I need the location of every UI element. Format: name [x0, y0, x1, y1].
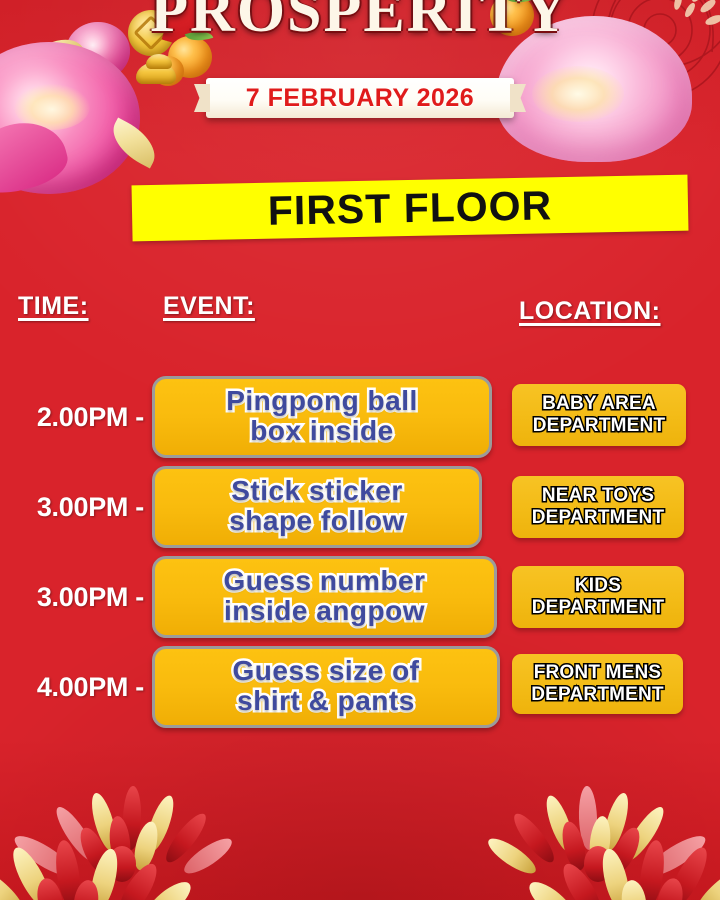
event-location-pill[interactable]: NEAR TOYS DEPARTMENT [512, 476, 684, 538]
column-header-event: EVENT: [163, 292, 255, 321]
event-location-line1: NEAR TOYS [542, 485, 654, 507]
mandarin-orange-icon [152, 56, 184, 86]
bottom-right-chrysanthemum-decoration [400, 760, 720, 900]
event-name-pill[interactable]: Guess size of shirt & pants [152, 646, 500, 728]
event-name-line2: shape follow [229, 506, 405, 536]
event-name-line2: box inside [250, 416, 393, 446]
event-location-pill[interactable]: FRONT MENS DEPARTMENT [512, 654, 683, 714]
poster-canvas: HARVEST OF PROSPERITY 7 FEBRUARY 2026 FI… [0, 0, 720, 900]
event-date-ribbon: 7 FEBRUARY 2026 [206, 78, 514, 118]
event-name-line2: inside angpow [224, 596, 425, 626]
pink-peony-flower-decoration [0, 42, 140, 194]
peony-stamen-decoration [14, 84, 90, 130]
schedule-row: 4.00PM - Guess size of shirt & pants FRO… [0, 642, 720, 732]
event-time: 3.00PM - [0, 582, 152, 613]
column-header-time: TIME: [18, 292, 89, 321]
event-location-line2: DEPARTMENT [531, 684, 664, 706]
event-name-pill[interactable]: Guess number inside angpow [152, 556, 497, 638]
schedule-row: 3.00PM - Guess number inside angpow KIDS… [0, 552, 720, 642]
schedule-row: 2.00PM - Pingpong ball box inside BABY A… [0, 372, 720, 462]
event-time: 3.00PM - [0, 492, 152, 523]
event-date-text: 7 FEBRUARY 2026 [246, 84, 474, 113]
event-location-pill[interactable]: KIDS DEPARTMENT [512, 566, 684, 628]
event-location-line2: DEPARTMENT [533, 415, 666, 437]
poster-title: HARVEST OF PROSPERITY [0, 0, 720, 42]
event-name-pill[interactable]: Pingpong ball box inside [152, 376, 492, 458]
event-name-line1: Pingpong ball [226, 386, 418, 416]
event-name-line1: Stick sticker [231, 476, 403, 506]
event-location-line2: DEPARTMENT [532, 597, 665, 619]
peony-petal-decoration [0, 113, 73, 200]
gold-ingot-icon [136, 62, 176, 84]
floor-banner-text: FIRST FLOOR [267, 182, 552, 234]
schedule-table: 2.00PM - Pingpong ball box inside BABY A… [0, 372, 720, 732]
gold-ingot-icon [146, 54, 172, 69]
column-header-location: LOCATION: [519, 297, 661, 326]
schedule-row: 3.00PM - Stick sticker shape follow NEAR… [0, 462, 720, 552]
event-location-line2: DEPARTMENT [532, 507, 665, 529]
event-location-line1: FRONT MENS [534, 662, 662, 684]
event-location-line1: BABY AREA [542, 393, 656, 415]
event-name-line1: Guess number [223, 566, 425, 596]
peony-stamen-decoration [532, 66, 624, 122]
event-name-line2: shirt & pants [237, 686, 415, 716]
floor-banner: FIRST FLOOR [132, 175, 689, 242]
event-location-pill[interactable]: BABY AREA DEPARTMENT [512, 384, 686, 446]
title-line-prosperity: PROSPERITY [0, 0, 720, 42]
bottom-left-chrysanthemum-decoration [0, 760, 320, 900]
event-time: 4.00PM - [0, 672, 152, 703]
event-name-pill[interactable]: Stick sticker shape follow [152, 466, 482, 548]
gold-leaf-decoration [104, 118, 164, 169]
event-time: 2.00PM - [0, 402, 152, 433]
event-name-line1: Guess size of [232, 656, 419, 686]
event-location-line1: KIDS [575, 575, 621, 597]
